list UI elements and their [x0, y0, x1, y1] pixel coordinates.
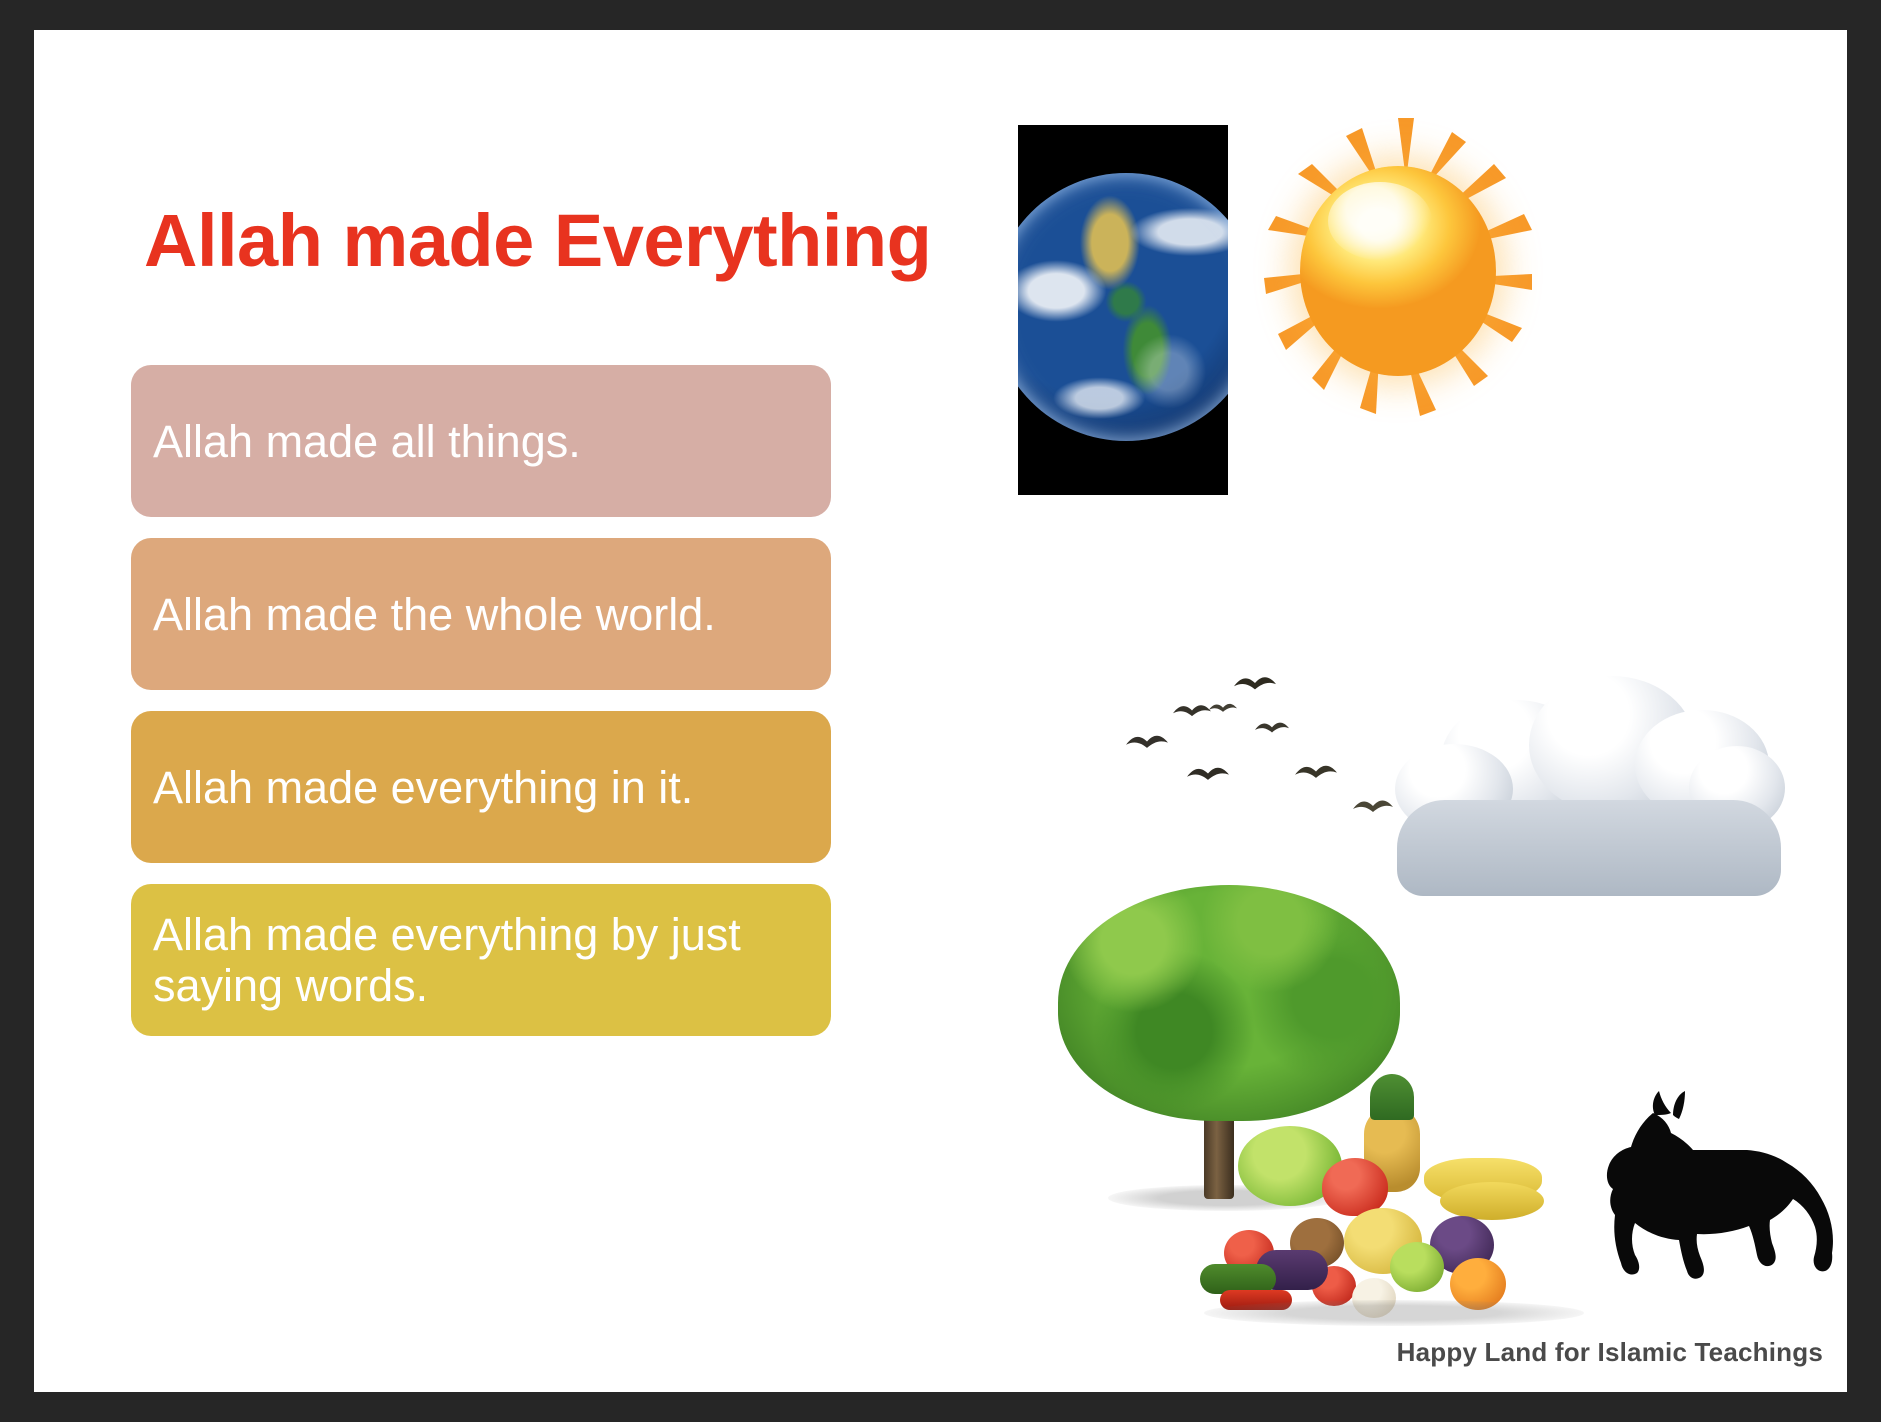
statement-box-1[interactable]: Allah made all things. — [131, 365, 831, 517]
bird-icon — [1294, 760, 1338, 781]
bird-icon — [1208, 700, 1238, 714]
statement-box-4[interactable]: Allah made everything by just saying wor… — [131, 884, 831, 1036]
statement-list: Allah made all things. Allah made the wh… — [131, 365, 831, 1057]
statement-box-2[interactable]: Allah made the whole world. — [131, 538, 831, 690]
bird-icon — [1186, 762, 1230, 783]
bird-icon — [1233, 672, 1277, 693]
produce-pile-icon — [1194, 1100, 1604, 1330]
statement-text-2: Allah made the whole world. — [153, 590, 716, 641]
horse-icon — [1589, 1085, 1839, 1295]
tree-canopy-icon — [1058, 885, 1400, 1121]
sun-icon — [1256, 118, 1556, 448]
page-title: Allah made Everything — [144, 202, 931, 280]
slide-canvas: Allah made Everything Allah made all thi… — [34, 30, 1847, 1392]
slide-frame: Allah made Everything Allah made all thi… — [0, 0, 1881, 1422]
sun-highlight-icon — [1328, 182, 1432, 260]
bird-icon — [1125, 730, 1169, 751]
statement-box-3[interactable]: Allah made everything in it. — [131, 711, 831, 863]
statement-text-3: Allah made everything in it. — [153, 763, 693, 814]
bird-icon — [1172, 700, 1212, 719]
footer-credit: Happy Land for Islamic Teachings — [1397, 1337, 1823, 1368]
bird-icon — [1352, 795, 1394, 815]
earth-atmosphere-icon — [1018, 173, 1228, 441]
statement-text-4: Allah made everything by just saying wor… — [153, 910, 809, 1012]
bird-icon — [1254, 718, 1290, 735]
statement-text-1: Allah made all things. — [153, 417, 581, 468]
earth-photo-icon — [1018, 125, 1228, 495]
cloud-icon — [1389, 670, 1789, 910]
